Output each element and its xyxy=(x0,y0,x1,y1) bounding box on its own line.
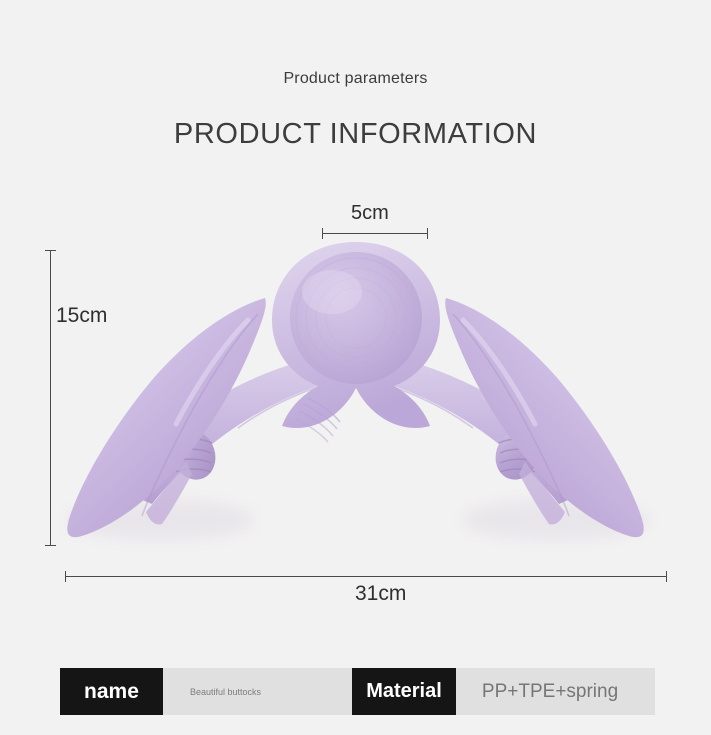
product-illustration xyxy=(0,180,711,580)
dimension-line-height-left xyxy=(50,250,51,546)
page-subtitle: Product parameters xyxy=(0,70,711,88)
dimension-label-height-left: 15cm xyxy=(56,304,107,328)
spec-value-name: Beautiful buttocks xyxy=(163,668,352,715)
dimension-label-width-top: 5cm xyxy=(351,202,389,225)
spec-key-name: name xyxy=(60,668,163,715)
spec-key-material: Material xyxy=(352,668,456,715)
center-disc-pad xyxy=(272,242,440,442)
dimension-line-width-bottom xyxy=(65,576,667,577)
spec-table: name Beautiful buttocks Material PP+TPE+… xyxy=(60,668,655,715)
product-information-page: Product parameters PRODUCT INFORMATION xyxy=(0,0,711,735)
spec-value-material: PP+TPE+spring xyxy=(456,668,655,715)
page-title: PRODUCT INFORMATION xyxy=(0,118,711,151)
dimension-line-width-top xyxy=(322,233,428,234)
dimension-label-width-bottom: 31cm xyxy=(355,582,406,606)
